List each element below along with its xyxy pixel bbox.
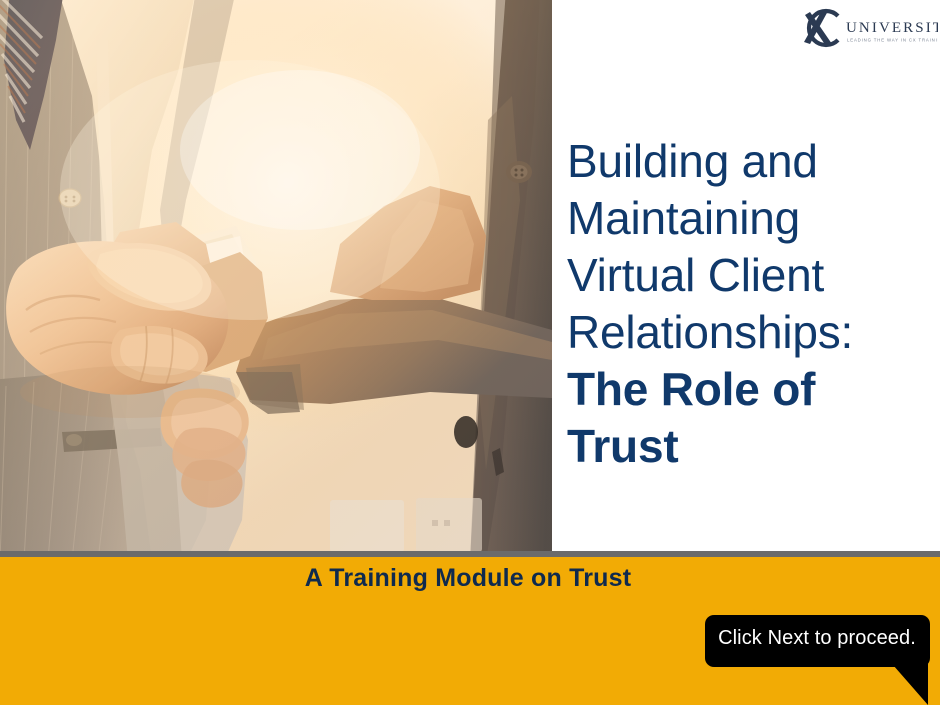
page-title: Building and Maintaining Virtual Client … <box>567 133 929 475</box>
logo-wordmark: UNIVERSITY <box>846 20 938 36</box>
title-line-5: The Role of <box>567 361 929 418</box>
xc-university-logo: UNIVERSITY LEADING THE WAY IN CX TRAININ… <box>798 2 938 58</box>
title-line-4: Relationships: <box>567 304 929 361</box>
handshake-photo <box>0 0 552 551</box>
xc-university-logo-svg: UNIVERSITY LEADING THE WAY IN CX TRAININ… <box>798 2 938 58</box>
next-instruction-callout: Click Next to proceed. <box>700 610 940 705</box>
title-line-3: Virtual Client <box>567 247 929 304</box>
title-slide: UNIVERSITY LEADING THE WAY IN CX TRAININ… <box>0 0 940 705</box>
title-line-1: Building and <box>567 133 929 190</box>
callout-text: Click Next to proceed. <box>700 610 928 666</box>
logo-tagline: LEADING THE WAY IN CX TRAINING <box>847 38 938 43</box>
banner-subtitle-text: A Training Module on Trust <box>305 564 632 593</box>
title-line-2: Maintaining <box>567 190 929 247</box>
handshake-photo-illustration <box>0 0 552 551</box>
title-line-6: Trust <box>567 418 929 475</box>
banner-subtitle: A Training Module on Trust <box>0 564 940 593</box>
